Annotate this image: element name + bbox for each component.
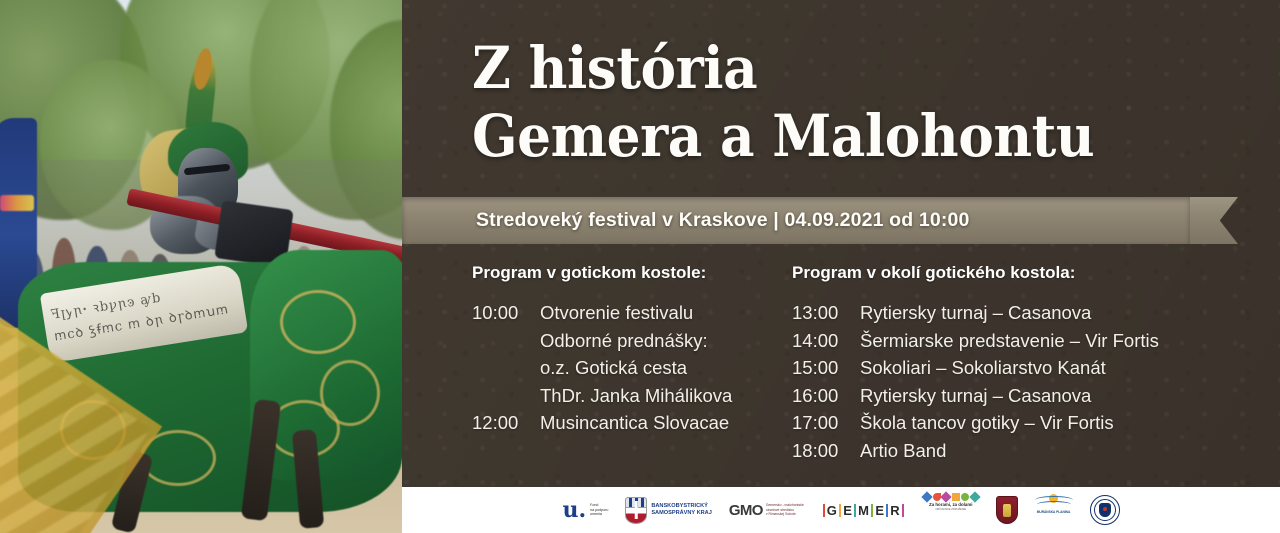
program-time: [472, 354, 540, 382]
content-panel: Z história Gemera a Malohontu Stredoveký…: [402, 0, 1280, 533]
program-time: 13:00: [792, 299, 860, 327]
bbsk-coat-of-arms-icon: [625, 497, 647, 524]
gold-scroll-ornament: [280, 290, 356, 354]
program-row: 10:00 Otvorenie festivalu: [472, 299, 792, 327]
program-item: Artio Band: [860, 437, 1262, 465]
flag-graphic: [0, 195, 34, 211]
zh-subtext: OBČIANSKE ZDRUŽENIE: [935, 508, 966, 511]
program-church: Program v gotickom kostole: 10:00 Otvore…: [472, 263, 792, 464]
poster: ꟻꞁꭚꞃꞏ ꝛbꝩꞃꜿ ꜽbꭑcꝺ ꝣꞙꭑc ꭑ ꝺꞃ ꝺꞅꝺꭑꭒꭑ Z his…: [0, 0, 1280, 533]
program-church-heading: Program v gotickom kostole:: [472, 263, 792, 283]
bbsk-text: BANSKOBYSTRICKÝ SAMOSPRÁVNY KRAJ: [651, 503, 712, 516]
sponsor-logo-bar: u. Fond na podporu umenia BANSKOBYSTRICK…: [402, 487, 1280, 533]
program-row: ThDr. Janka Mihálikova: [472, 382, 792, 410]
ribbon-notched-tail: [1190, 197, 1238, 244]
program-row: 15:00 Sokoliari – Sokoliarstvo Kanát: [792, 354, 1262, 382]
program-row: 18:00 Artio Band: [792, 437, 1262, 465]
program-row: 13:00 Rytiersky turnaj – Casanova: [792, 299, 1262, 327]
municipal-crest-icon: [996, 496, 1018, 524]
circular-seal-icon: [1090, 495, 1120, 525]
program-row: 12:00 Musincantica Slovacae: [472, 409, 792, 437]
program-row: o.z. Gotická cesta: [472, 354, 792, 382]
program-time: 15:00: [792, 354, 860, 382]
logo-za-horami-za-dolami: Za horami, za dolami OBČIANSKE ZDRUŽENIE: [923, 493, 979, 527]
program-item: Šermiarske predstavenie – Vir Fortis: [860, 327, 1262, 355]
fpu-text: Fond na podporu umenia: [590, 503, 608, 517]
program-item: ThDr. Janka Mihálikova: [540, 382, 792, 410]
program-columns: Program v gotickom kostole: 10:00 Otvore…: [472, 263, 1262, 464]
title-line-2: Gemera a Malohontu: [472, 102, 1208, 170]
zh-shapes-icon: [923, 493, 979, 501]
program-row: Odborné prednášky:: [472, 327, 792, 355]
program-row: 17:00 Škola tancov gotiky – Vir Fortis: [792, 409, 1262, 437]
program-item: o.z. Gotická cesta: [540, 354, 792, 382]
logo-fond-na-podporu-umenia: u. Fond na podporu umenia: [562, 493, 608, 527]
program-time: 12:00: [472, 409, 540, 437]
program-time: 10:00: [472, 299, 540, 327]
program-item: Otvorenie festivalu: [540, 299, 792, 327]
logo-banskobystricky-samospravny-kraj: BANSKOBYSTRICKÝ SAMOSPRÁVNY KRAJ: [625, 493, 712, 527]
gmo-text: Gemersko - malohontské osvetové stredisk…: [766, 503, 804, 516]
program-item: Škola tancov gotiky – Vir Fortis: [860, 409, 1262, 437]
program-time: [472, 382, 540, 410]
program-time: 14:00: [792, 327, 860, 355]
program-time: 17:00: [792, 409, 860, 437]
logo-kruhova-pecat: [1090, 493, 1120, 527]
program-item: Sokoliari – Sokoliarstvo Kanát: [860, 354, 1262, 382]
gemer-mark: GEMER: [821, 503, 906, 518]
logo-gemer: GEMER: [821, 493, 906, 527]
title-line-1: Z história: [472, 34, 757, 102]
program-item: Rytiersky turnaj – Casanova: [860, 382, 1262, 410]
page-title: Z história Gemera a Malohontu: [472, 34, 1208, 170]
program-row: 14:00 Šermiarske predstavenie – Vir Fort…: [792, 327, 1262, 355]
logo-gmo: GMO Gemersko - malohontské osvetové stre…: [729, 493, 804, 527]
program-surroundings-heading: Program v okolí gotického kostola:: [792, 263, 1262, 283]
mts-text: MURÁNSKA PLANINA: [1037, 510, 1071, 514]
program-time: 16:00: [792, 382, 860, 410]
gmo-mark: GMO: [729, 502, 763, 519]
mountain-sun-icon: [1035, 493, 1073, 509]
program-item: Odborné prednášky:: [540, 327, 792, 355]
program-surroundings: Program v okolí gotického kostola: 13:00…: [792, 263, 1262, 464]
program-item: Rytiersky turnaj – Casanova: [860, 299, 1262, 327]
zh-text: Za horami, za dolami: [929, 502, 972, 507]
program-time: 18:00: [792, 437, 860, 465]
festival-photo: ꟻꞁꭚꞃꞏ ꝛbꝩꞃꜿ ꜽbꭑcꝺ ꝣꞙꭑc ꭑ ꝺꞃ ꝺꞅꝺꭑꭒꭑ: [0, 0, 402, 533]
program-row: 16:00 Rytiersky turnaj – Casanova: [792, 382, 1262, 410]
logo-obecny-erb: [996, 493, 1018, 527]
program-time: [472, 327, 540, 355]
logo-muranska-planina: MURÁNSKA PLANINA: [1035, 493, 1073, 527]
event-subtitle: Stredoveký festival v Kraskove | 04.09.2…: [476, 197, 969, 244]
fpu-mark: u.: [562, 499, 586, 521]
program-item: Musincantica Slovacae: [540, 409, 792, 437]
